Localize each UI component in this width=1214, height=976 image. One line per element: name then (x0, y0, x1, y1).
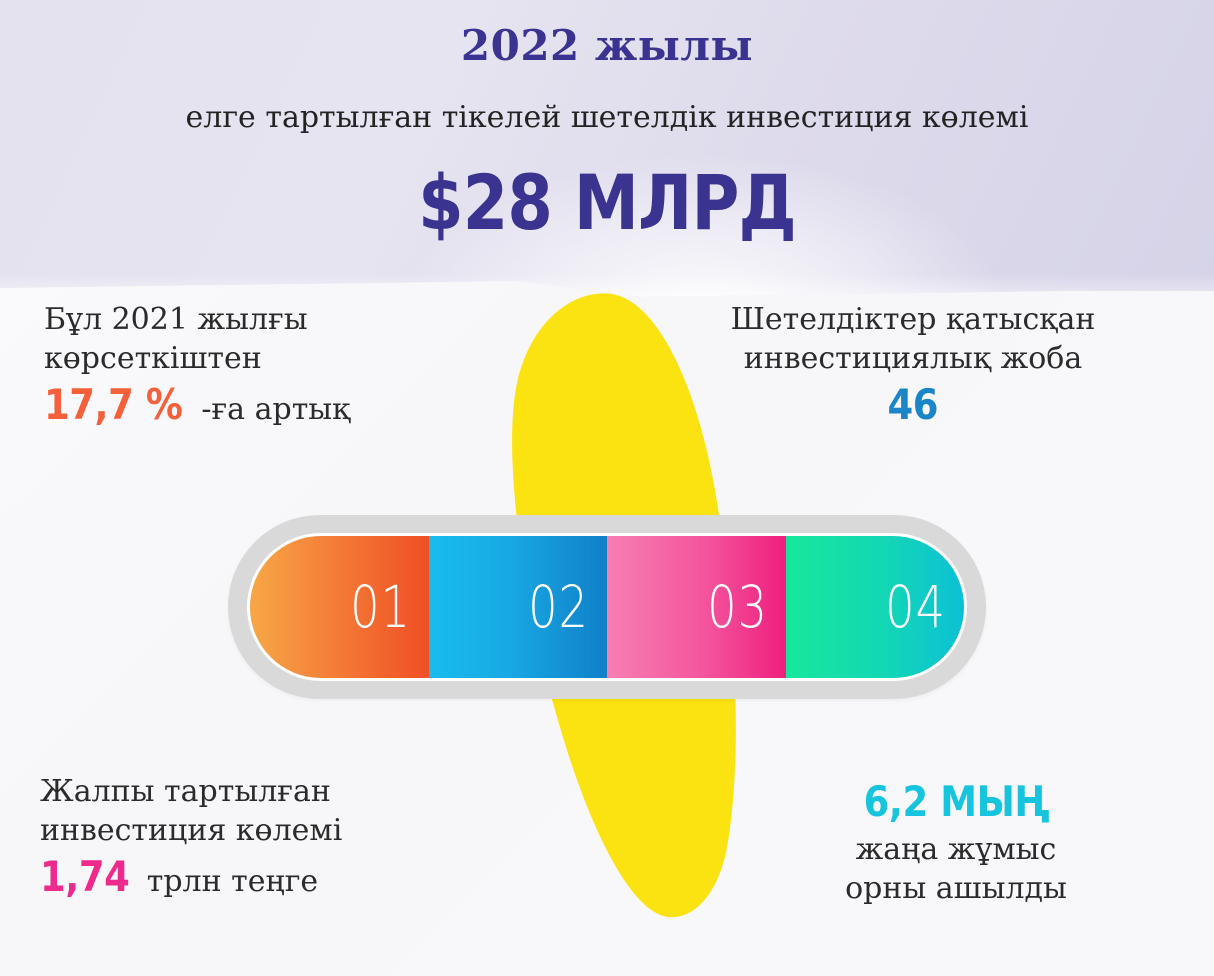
pill-segment-04[interactable]: 04 (786, 536, 965, 678)
stat-block-total-investment: Жалпы тартылған инвестиция көлемі 1,74 т… (40, 772, 342, 905)
segmented-pill-frame: 01 02 03 04 (228, 515, 986, 699)
growth-value-row: 17,7 %-ға артық (44, 378, 350, 433)
page-title-year: 2022 жылы (0, 21, 1214, 70)
page-subtitle: елге тартылған тікелей шетелдік инвестиц… (0, 100, 1214, 135)
growth-line-2: көрсеткіштен (44, 339, 350, 378)
stat-block-jobs: 6,2 МЫҢ жаңа жұмыс орны ашылды (756, 775, 1156, 908)
jobs-line-2: орны ашылды (756, 869, 1156, 908)
total-line-2: инвестиция көлемі (40, 811, 342, 850)
total-line-1: Жалпы тартылған (40, 772, 342, 811)
jobs-value: 6,2 МЫҢ (863, 775, 1049, 830)
growth-suffix: -ға артық (201, 392, 350, 427)
jobs-value-row: 6,2 МЫҢ (756, 775, 1156, 830)
projects-value: 46 (888, 378, 939, 433)
pill-segment-01-label: 01 (350, 578, 411, 636)
jobs-line-1: жаңа жұмыс (756, 830, 1156, 869)
total-suffix: трлн теңге (147, 864, 318, 899)
pill-segment-04-label: 04 (885, 578, 946, 636)
pill-segment-02[interactable]: 02 (429, 536, 608, 678)
growth-value: 17,7 % (44, 378, 182, 433)
total-value-row: 1,74 трлн теңге (40, 850, 342, 905)
projects-line-1: Шетелдіктер қатысқан (668, 300, 1158, 339)
pill-segment-01[interactable]: 01 (250, 536, 429, 678)
pill-segment-02-label: 02 (528, 578, 589, 636)
stat-block-growth: Бұл 2021 жылғы көрсеткіштен 17,7 %-ға ар… (44, 300, 350, 433)
headline-amount: $28 МЛРД (85, 158, 1129, 247)
segmented-pill: 01 02 03 04 (250, 536, 964, 678)
infographic-canvas: 2022 жылы елге тартылған тікелей шетелді… (0, 0, 1214, 976)
pill-segment-03[interactable]: 03 (607, 536, 786, 678)
projects-line-2: инвестициялық жоба (668, 339, 1158, 378)
growth-line-1: Бұл 2021 жылғы (44, 300, 350, 339)
total-value: 1,74 (40, 850, 129, 905)
projects-value-row: 46 (668, 378, 1158, 433)
pill-segment-03-label: 03 (707, 578, 768, 636)
stat-block-projects: Шетелдіктер қатысқан инвестициялық жоба … (668, 300, 1158, 433)
